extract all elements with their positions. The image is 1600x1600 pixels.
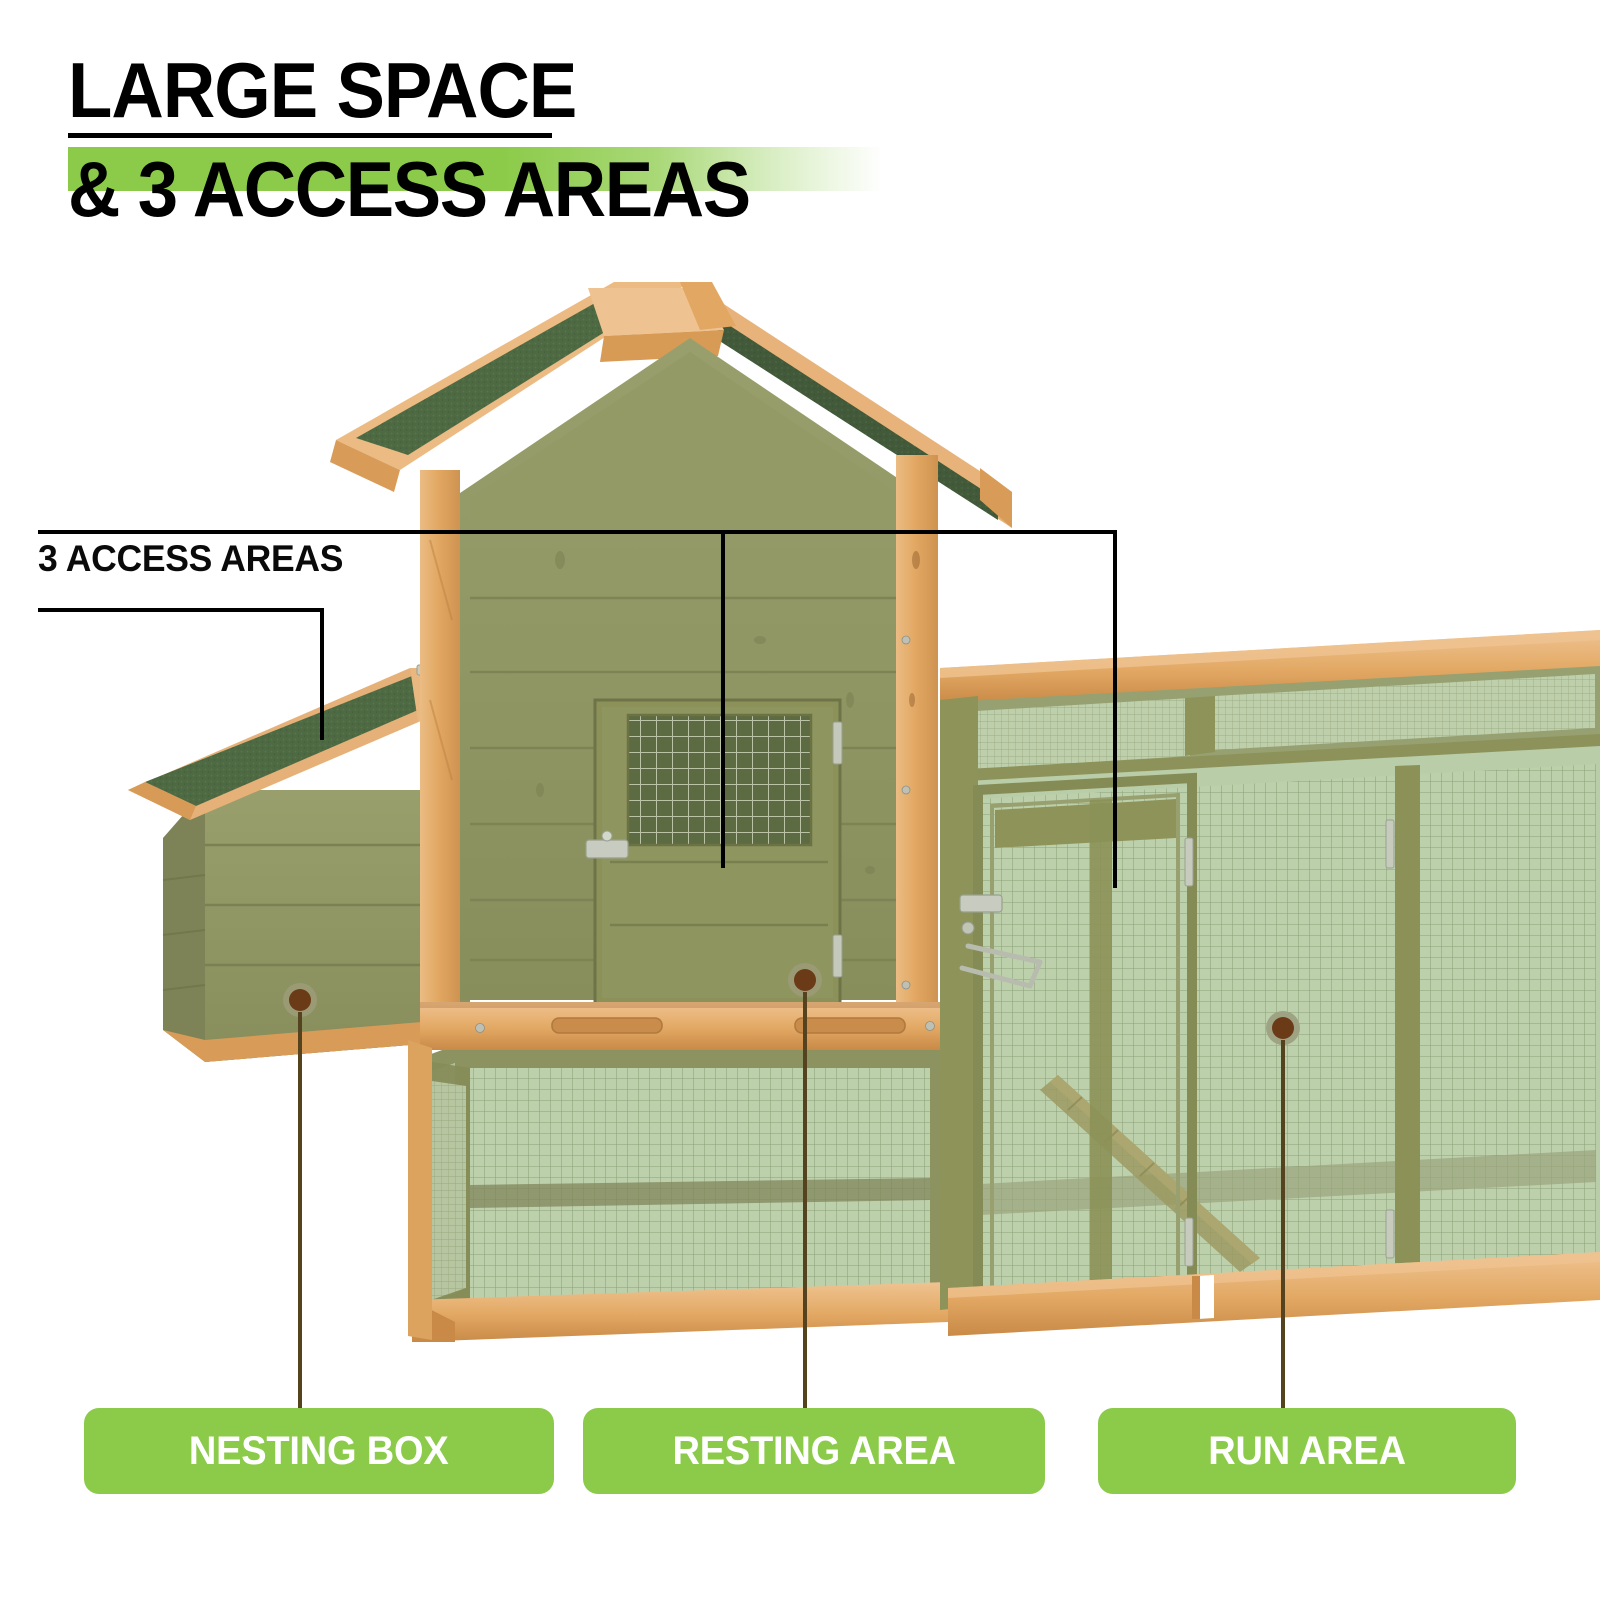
headline-block: LARGE SPACE & 3 ACCESS AREAS [68, 52, 615, 221]
center-lower-run [408, 1040, 948, 1342]
infographic-canvas: LARGE SPACE & 3 ACCESS AREAS 3 ACCESS AR… [0, 0, 1600, 1600]
label-pill-resting-area-text: RESTING AREA [672, 1429, 955, 1474]
run-area-anchor-dot [1266, 1011, 1300, 1045]
nesting-box [128, 662, 470, 1062]
coop-door[interactable] [586, 700, 842, 1005]
headline-line-2: & 3 ACCESS AREAS [68, 151, 750, 227]
door-mesh-window [628, 715, 811, 845]
label-pill-nesting-box: NESTING BOX [84, 1408, 554, 1494]
pull-out-tray[interactable] [420, 1002, 940, 1050]
coop-body [330, 282, 1012, 1050]
run-enclosure [940, 630, 1600, 1336]
access-areas-callout-label: 3 ACCESS AREAS [38, 538, 343, 580]
label-pill-run-area: RUN AREA [1098, 1408, 1516, 1494]
label-pill-nesting-box-text: NESTING BOX [189, 1429, 449, 1474]
headline-underline [68, 133, 552, 138]
label-pill-run-area-text: RUN AREA [1208, 1429, 1406, 1474]
resting-area-anchor-dot [788, 963, 822, 997]
headline-line-1: LARGE SPACE [68, 52, 576, 128]
nesting-box-anchor-dot [283, 983, 317, 1017]
label-pill-resting-area: RESTING AREA [583, 1408, 1045, 1494]
product-image [0, 0, 1600, 1600]
headline-highlight-band: & 3 ACCESS AREAS [68, 147, 615, 221]
